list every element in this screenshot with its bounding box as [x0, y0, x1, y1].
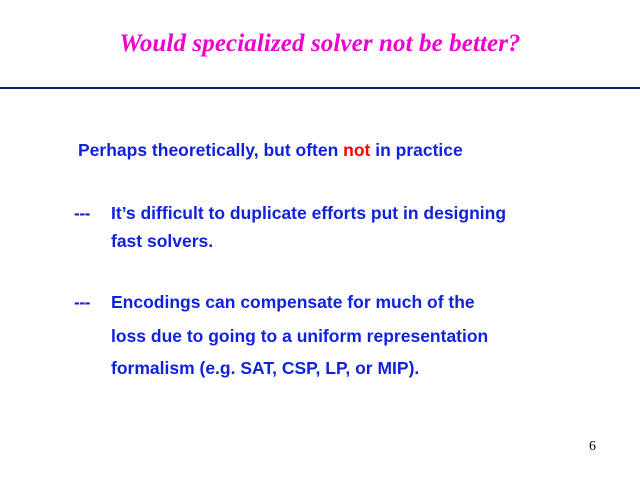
bullet-2-line-1: Encodings can compensate for much of the [111, 292, 475, 313]
intro-statement: Perhaps theoretically, but often not in … [78, 140, 463, 161]
intro-text-after: in practice [370, 140, 462, 160]
slide-body: Perhaps theoretically, but often not in … [0, 0, 640, 480]
presentation-slide: Would specialized solver not be better? … [0, 0, 640, 480]
intro-emphasis-not: not [343, 140, 370, 160]
bullet-1-line-1: It’s difficult to duplicate efforts put … [111, 203, 506, 224]
page-number: 6 [589, 438, 596, 455]
intro-text-before: Perhaps theoretically, but often [78, 140, 343, 160]
bullet-2-line-3: formalism (e.g. SAT, CSP, LP, or MIP). [111, 358, 419, 379]
bullet-marker-2: --- [74, 292, 90, 313]
bullet-1-line-2: fast solvers. [111, 231, 213, 252]
bullet-marker-1: --- [74, 203, 90, 224]
bullet-2-line-2: loss due to going to a uniform represent… [111, 326, 488, 347]
